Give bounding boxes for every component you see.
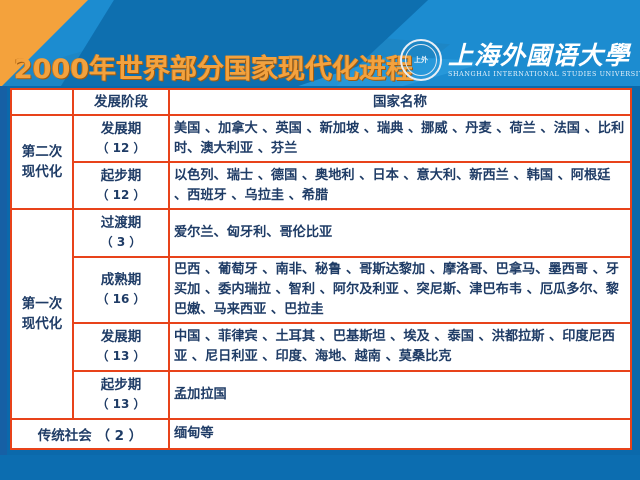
countries-cell: 爱尔兰、匈牙利、哥伦比亚 [169,209,631,257]
stage-cell: 发展期 （ 13 ） [73,323,169,371]
table-row: 起步期 （ 13 ） 孟加拉国 [11,371,631,419]
countries-cell: 美国 、加拿大 、英国 、新加坡 、瑞典 、挪威 、丹麦 、荷兰 、法国 、比利… [169,115,631,162]
stage-name: 起步期 [78,376,164,395]
background-left-rail [0,86,7,455]
stage-name: 发展期 [78,328,164,347]
countries-cell: 孟加拉国 [169,371,631,419]
slide-title-text: 2000年世界部分国家现代化进程 [14,47,413,86]
stage-name: 过渡期 [78,214,164,233]
stage-name: 发展期 [78,120,164,139]
university-name-cn: 上海外國语大學 [448,43,640,68]
stage-cell: 发展期 （ 12 ） [73,115,169,162]
slide-canvas: 2000年世界部分国家现代化进程 上外 上海外國语大學 SHANGHAI INT… [0,0,640,480]
era-label-second-modernization: 第二次现代化 [11,115,73,209]
era-label-first-modernization: 第一次现代化 [11,209,73,419]
university-logo: 上外 上海外國语大學 SHANGHAI INTERNATIONAL STUDIE… [400,34,630,86]
stage-count: （ 13 ） [78,395,164,414]
university-seal-text: 上外 [414,56,428,64]
traditional-society-label: 传统社会 （ 2 ） [11,419,169,449]
university-name-en: SHANGHAI INTERNATIONAL STUDIES UNIVERSIT… [448,71,640,77]
countries-cell: 缅甸等 [169,419,631,449]
modernization-table: 发展阶段 国家名称 第二次现代化 发展期 （ 12 ） 美国 、加拿大 、英国 … [10,88,632,450]
table-header-countries: 国家名称 [169,89,631,115]
table-row: 成熟期 （ 16 ） 巴西 、葡萄牙 、南非、秘鲁 、哥斯达黎加 、摩洛哥、巴拿… [11,257,631,323]
table-header-corner [11,89,73,115]
stage-cell: 过渡期 （ 3 ） [73,209,169,257]
university-name-block: 上海外國语大學 SHANGHAI INTERNATIONAL STUDIES U… [448,43,640,77]
countries-cell: 以色列、瑞士 、德国 、奥地利 、日本 、意大利、新西兰 、韩国 、阿根廷 、西… [169,162,631,209]
stage-name: 成熟期 [78,271,164,290]
university-seal-icon: 上外 [400,39,442,81]
table-row: 第一次现代化 过渡期 （ 3 ） 爱尔兰、匈牙利、哥伦比亚 [11,209,631,257]
stage-name: 起步期 [78,167,164,186]
table-row-traditional: 传统社会 （ 2 ） 缅甸等 [11,419,631,449]
stage-count: （ 3 ） [78,233,164,252]
slide-title: 2000年世界部分国家现代化进程 [14,48,434,84]
background-lower-sheen [0,455,640,480]
table-header-row: 发展阶段 国家名称 [11,89,631,115]
stage-count: （ 16 ） [78,290,164,309]
stage-cell: 起步期 （ 13 ） [73,371,169,419]
stage-count: （ 12 ） [78,186,164,205]
stage-cell: 起步期 （ 12 ） [73,162,169,209]
countries-cell: 中国 、菲律宾 、土耳其 、巴基斯坦 、埃及 、泰国 、洪都拉斯 、印度尼西亚 … [169,323,631,371]
table-header-stage: 发展阶段 [73,89,169,115]
stage-count: （ 13 ） [78,347,164,366]
countries-cell: 巴西 、葡萄牙 、南非、秘鲁 、哥斯达黎加 、摩洛哥、巴拿马、墨西哥 、牙买加 … [169,257,631,323]
table-row: 起步期 （ 12 ） 以色列、瑞士 、德国 、奥地利 、日本 、意大利、新西兰 … [11,162,631,209]
table-row: 第二次现代化 发展期 （ 12 ） 美国 、加拿大 、英国 、新加坡 、瑞典 、… [11,115,631,162]
stage-count: （ 12 ） [78,139,164,158]
table-row: 发展期 （ 13 ） 中国 、菲律宾 、土耳其 、巴基斯坦 、埃及 、泰国 、洪… [11,323,631,371]
stage-cell: 成熟期 （ 16 ） [73,257,169,323]
